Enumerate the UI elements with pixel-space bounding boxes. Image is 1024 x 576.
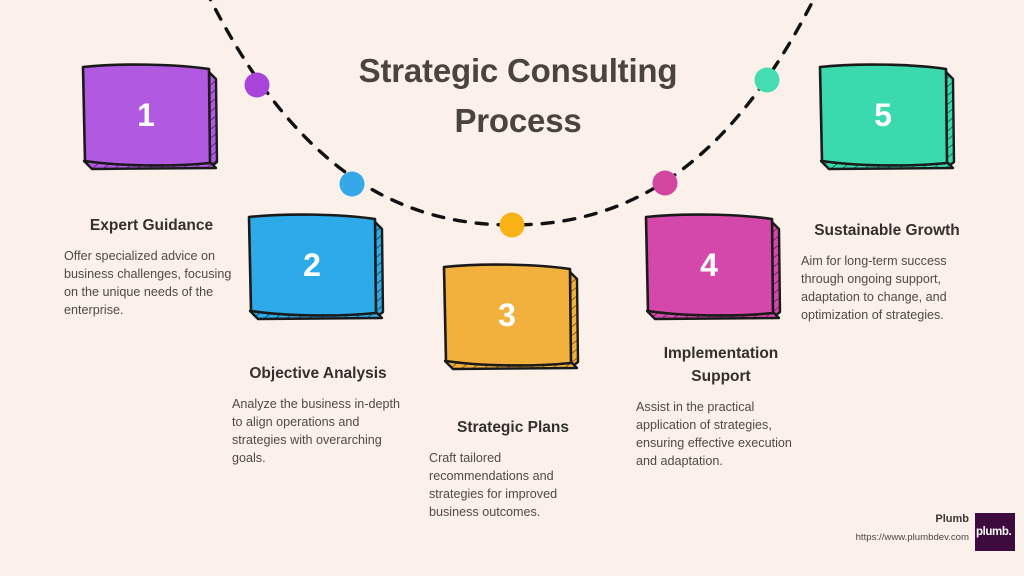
step-card-3[interactable]: 3 xyxy=(444,265,578,369)
plumb-logo-text: plumb. xyxy=(975,526,1011,538)
step-card-1-number: 1 xyxy=(137,97,155,133)
footer-brand-name: Plumb xyxy=(856,513,969,527)
step-card-2[interactable]: 2 xyxy=(249,215,383,319)
footer-text: Plumb https://www.plumbdev.com xyxy=(856,513,969,544)
step-card-2-number: 2 xyxy=(303,247,321,283)
step-card-4-number: 4 xyxy=(700,247,718,283)
footer-url[interactable]: https://www.plumbdev.com xyxy=(856,532,969,544)
footer-branding: Plumb https://www.plumbdev.com plumb. xyxy=(810,508,1015,556)
step-card-1[interactable]: 1 xyxy=(83,65,217,169)
step-card-4[interactable]: 4 xyxy=(646,215,780,319)
step-card-3-number: 3 xyxy=(498,297,516,333)
plumb-logo[interactable]: plumb. xyxy=(975,513,1015,551)
step-card-5[interactable]: 5 xyxy=(820,65,954,169)
step-card-5-number: 5 xyxy=(874,97,892,133)
page-title: Strategic Consulting Process xyxy=(332,46,704,146)
infographic-canvas: 1 2 3 4 5 Stra xyxy=(0,0,1024,576)
